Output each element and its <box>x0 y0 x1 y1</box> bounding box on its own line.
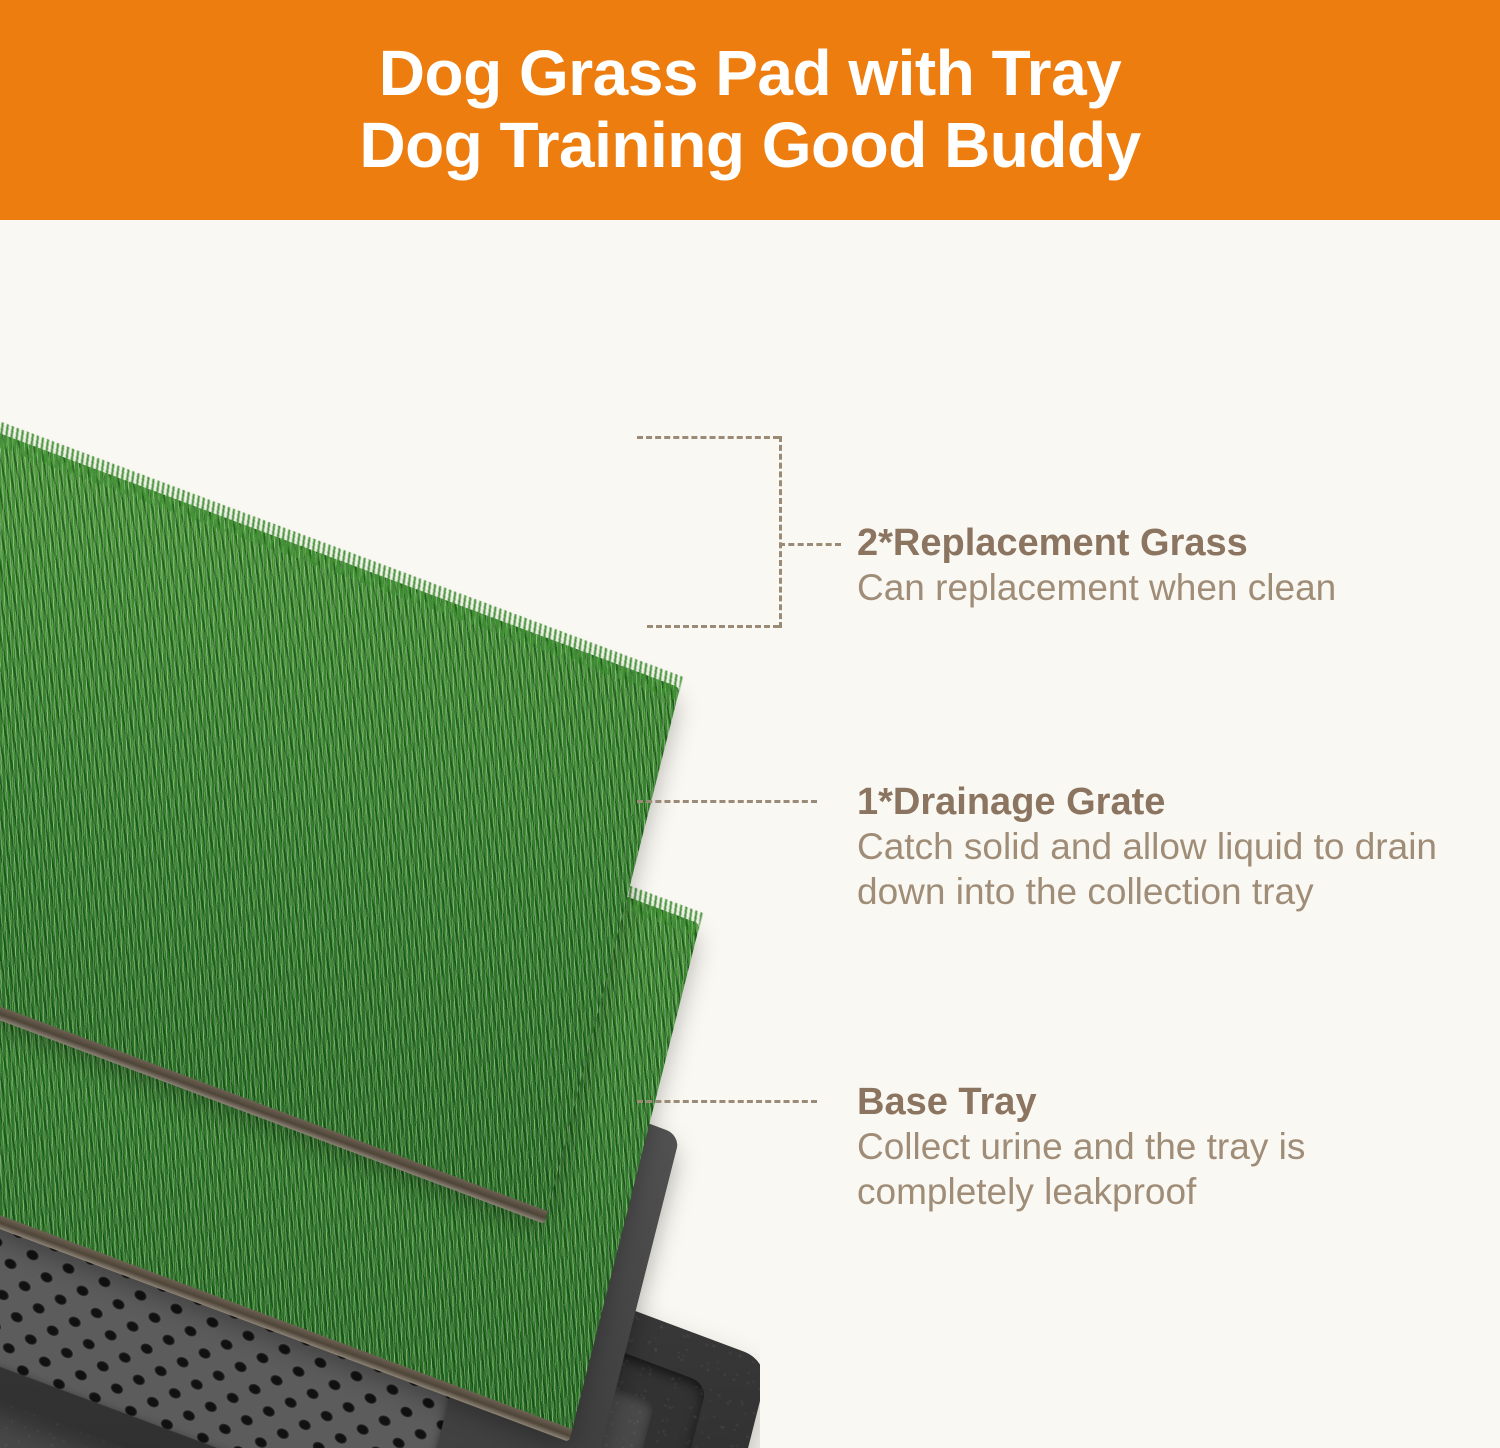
grass-pad-upper-fringe <box>0 299 683 700</box>
callout-base-tray: Base Tray Collect urine and the tray is … <box>857 1081 1457 1214</box>
callout-1-body: Can replacement when clean <box>857 565 1336 610</box>
callout-1-bracket-bottom <box>647 625 779 628</box>
callout-1-heading: 2*Replacement Grass <box>857 522 1336 565</box>
callout-replacement-grass: 2*Replacement Grass Can replacement when… <box>857 522 1336 610</box>
page-title-line-2: Dog Training Good Buddy <box>359 110 1140 182</box>
page-title-line-1: Dog Grass Pad with Tray <box>379 38 1122 110</box>
header-banner: Dog Grass Pad with Tray Dog Training Goo… <box>0 0 1500 220</box>
callout-2-connector <box>637 800 817 803</box>
callout-3-body: Collect urine and the tray is completely… <box>857 1124 1457 1214</box>
callout-2-body: Catch solid and allow liquid to drain do… <box>857 824 1457 914</box>
callout-3-heading: Base Tray <box>857 1081 1457 1124</box>
callout-2-heading: 1*Drainage Grate <box>857 781 1457 824</box>
callout-drainage-grate: 1*Drainage Grate Catch solid and allow l… <box>857 781 1457 914</box>
callout-1-bracket-top <box>637 436 779 439</box>
callout-1-bracket-stub <box>779 543 841 546</box>
callout-1-bracket-spine <box>779 436 782 628</box>
product-exploded-view <box>0 220 760 1448</box>
callout-3-connector <box>637 1100 817 1103</box>
